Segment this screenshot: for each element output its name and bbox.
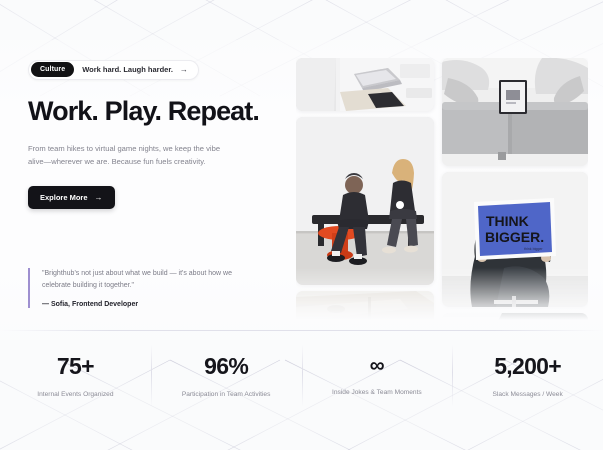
svg-text:think bigger: think bigger: [524, 247, 543, 251]
arrow-right-icon: →: [180, 66, 188, 74]
stat-item: ∞ Inside Jokes & Team Moments: [302, 331, 453, 450]
landing-page: Culture Work hard. Laugh harder. → Work.…: [0, 0, 603, 450]
stats-bar: 75+ Internal Events Organized 96% Partic…: [0, 331, 603, 450]
eyebrow-text: Work hard. Laugh harder.: [82, 66, 173, 74]
gallery-think-bigger-photo[interactable]: THINK BIGGER. think bigger: [442, 172, 588, 307]
gallery-bottom-detail-photo[interactable]: [442, 313, 588, 320]
testimonial-author: — Sofia, Frontend Developer: [42, 301, 260, 308]
photo-gallery: THINK BIGGER. think bigger: [296, 58, 588, 320]
sign-line-2: BIGGER.: [485, 229, 544, 245]
gallery-desk-laptop-photo[interactable]: [296, 58, 434, 111]
testimonial-quote: "Brighthub's not just about what we buil…: [42, 268, 260, 293]
stat-item: 5,200+ Slack Messages / Week: [452, 331, 603, 450]
gallery-lamp-detail-photo[interactable]: [296, 291, 434, 320]
gallery-bench-conversation-photo[interactable]: [296, 117, 434, 285]
stat-label: Inside Jokes & Team Moments: [332, 389, 422, 396]
arrow-right-icon: →: [95, 194, 103, 202]
eyebrow-tag-label: Culture: [31, 62, 74, 77]
stat-value: 75+: [57, 355, 94, 378]
hero-copy: Culture Work hard. Laugh harder. → Work.…: [28, 58, 278, 209]
stat-label: Slack Messages / Week: [493, 391, 563, 398]
explore-more-button[interactable]: Explore More →: [28, 186, 115, 209]
hero-section: Culture Work hard. Laugh harder. → Work.…: [0, 0, 603, 330]
eyebrow-badge[interactable]: Culture Work hard. Laugh harder. →: [28, 60, 199, 80]
stat-value: 96%: [204, 355, 248, 378]
testimonial: "Brighthub's not just about what we buil…: [28, 268, 260, 308]
gallery-sofa-tablet-photo[interactable]: [442, 58, 588, 166]
hero-description: From team hikes to virtual game nights, …: [28, 142, 224, 169]
page-title: Work. Play. Repeat.: [28, 97, 278, 126]
stat-item: 75+ Internal Events Organized: [0, 331, 151, 450]
stat-value: 5,200+: [494, 355, 561, 378]
stat-label: Internal Events Organized: [37, 391, 113, 398]
stat-label: Participation in Team Activities: [182, 391, 271, 398]
sign-line-1: THINK: [486, 213, 529, 229]
stat-value: ∞: [370, 355, 384, 376]
explore-more-label: Explore More: [40, 193, 88, 202]
stat-item: 96% Participation in Team Activities: [151, 331, 302, 450]
